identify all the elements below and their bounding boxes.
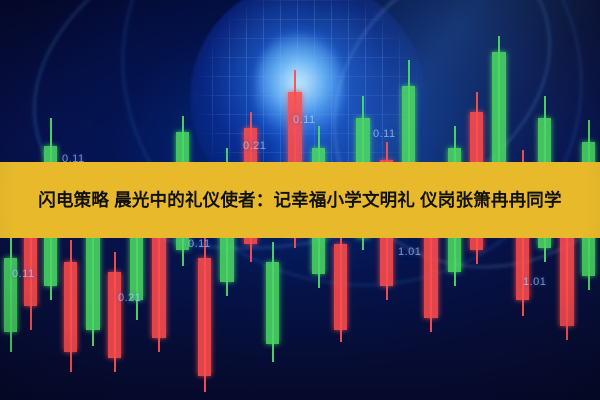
- price-label: 0.21: [118, 292, 141, 304]
- price-label: 0.11: [373, 128, 396, 140]
- caption-band: 闪电策略 晨光中的礼仪使者：记幸福小学文明礼 仪岗张箫冉冉同学: [0, 162, 600, 238]
- price-label: 0.11: [293, 114, 316, 126]
- image-canvas: 0.110.110.210.110.211.010.210.111.010.11…: [0, 0, 600, 400]
- caption-text: 闪电策略 晨光中的礼仪使者：记幸福小学文明礼 仪岗张箫冉冉同学: [20, 185, 580, 215]
- price-label: 0.11: [188, 238, 211, 250]
- price-label: 0.21: [243, 140, 266, 152]
- price-label: 1.01: [523, 276, 546, 288]
- price-label: 1.01: [398, 246, 421, 258]
- price-label: 0.11: [12, 268, 35, 280]
- caption-line-2: 仪岗张箫冉冉同学: [420, 190, 562, 210]
- caption-line-1: 闪电策略 晨光中的礼仪使者：记幸福小学文明礼: [38, 190, 415, 210]
